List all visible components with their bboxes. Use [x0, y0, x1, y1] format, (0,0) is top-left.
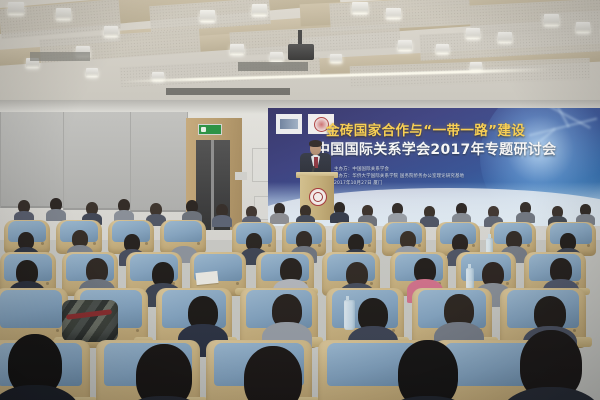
- hvac-air-vent: [30, 52, 90, 61]
- audience-member: [550, 258, 572, 283]
- audience-member: [18, 200, 30, 213]
- audience-member: [358, 298, 388, 332]
- audience-member: [456, 203, 467, 215]
- audience-member: [362, 205, 373, 217]
- audience-member: [274, 203, 285, 215]
- audience-member: [50, 198, 62, 211]
- water-bottle[interactable]: [466, 268, 474, 290]
- audience-member: [216, 204, 228, 217]
- audience-member: [346, 262, 368, 287]
- audience-member: [124, 234, 140, 252]
- audience-member: [506, 231, 522, 249]
- hvac-air-vent: [166, 88, 290, 95]
- audience-member: [334, 202, 345, 214]
- audience-member: [392, 203, 403, 215]
- audience-member: [400, 231, 416, 249]
- recessed-downlight: [544, 14, 559, 25]
- audience-member: [300, 205, 311, 217]
- audience-member: [424, 206, 435, 218]
- banner-title-line1: 金砖国家合作与“一带一路”建设: [326, 119, 600, 139]
- audience-member: [72, 230, 88, 248]
- audience-member: [520, 202, 531, 214]
- audience-member: [246, 233, 262, 251]
- audience-member: [186, 200, 198, 213]
- recessed-downlight: [8, 2, 24, 14]
- audience-member: [534, 296, 566, 332]
- audience-member: [560, 233, 576, 251]
- lecture-hall-photo: 金砖国家合作与“一带一路”建设 中国国际关系学会2017年专题研讨会 主办方：中…: [0, 0, 600, 400]
- recessed-downlight: [466, 28, 480, 38]
- audience-member: [520, 330, 582, 400]
- recessed-downlight: [352, 2, 368, 13]
- banner-subtitle-host: 承办方：华侨大学国际关系学院 国务院侨务办公室理论研究基地: [334, 173, 464, 179]
- audience-member: [452, 234, 468, 252]
- banner-title-line2: 中国国际关系学会2017年专题研讨会: [316, 139, 600, 159]
- audience-member: [444, 294, 474, 328]
- wall-switch-plate[interactable]: [235, 172, 247, 180]
- audience-member: [176, 231, 192, 249]
- water-bottle[interactable]: [344, 300, 355, 330]
- speaker-hair: [309, 140, 322, 147]
- audience-member: [136, 344, 192, 400]
- audience-member: [246, 206, 257, 218]
- recessed-downlight: [576, 22, 590, 32]
- audience-member: [272, 294, 302, 328]
- recessed-downlight: [270, 52, 283, 61]
- audience-member: [8, 334, 62, 396]
- notebook-paper: [195, 271, 218, 285]
- window-roller-blind[interactable]: [130, 112, 188, 212]
- ceiling-projector: [288, 44, 314, 60]
- camouflage-backpack: [62, 300, 118, 342]
- emergency-exit-sign: [198, 124, 222, 135]
- audience-member: [348, 234, 364, 252]
- recessed-downlight: [386, 8, 401, 18]
- window-roller-blind[interactable]: [0, 112, 64, 208]
- recessed-downlight: [470, 62, 482, 70]
- audience-member: [296, 231, 312, 249]
- audience-member: [414, 258, 436, 283]
- banner-subtitle-organizer: 主办方：中国国际关系学会: [334, 166, 389, 172]
- audience-member: [150, 203, 162, 216]
- audience-member: [552, 206, 563, 218]
- recessed-downlight: [252, 4, 267, 15]
- recessed-downlight: [104, 26, 118, 36]
- hvac-air-vent: [238, 62, 308, 71]
- recessed-downlight: [86, 68, 98, 76]
- audience-member: [188, 296, 218, 330]
- audience-member: [86, 258, 108, 283]
- audience-member: [118, 199, 130, 212]
- audience-member: [18, 232, 34, 250]
- audience-member: [580, 204, 591, 216]
- audience-member: [86, 202, 98, 215]
- audience-member: [244, 346, 302, 400]
- audience-member: [398, 340, 458, 400]
- recessed-downlight: [498, 32, 512, 42]
- recessed-downlight: [230, 44, 244, 54]
- recessed-downlight: [436, 44, 449, 53]
- audience-member: [16, 260, 38, 285]
- audience-member: [280, 258, 302, 283]
- university-crest: [309, 188, 327, 206]
- recessed-downlight: [398, 40, 412, 50]
- audience-member: [482, 262, 504, 287]
- institution-logo-grey: [276, 114, 302, 134]
- recessed-downlight: [56, 8, 71, 19]
- recessed-downlight: [200, 10, 215, 21]
- recessed-downlight: [330, 54, 342, 62]
- audience-member: [488, 206, 499, 218]
- window-roller-blind[interactable]: [63, 112, 131, 210]
- audience-member: [152, 262, 174, 287]
